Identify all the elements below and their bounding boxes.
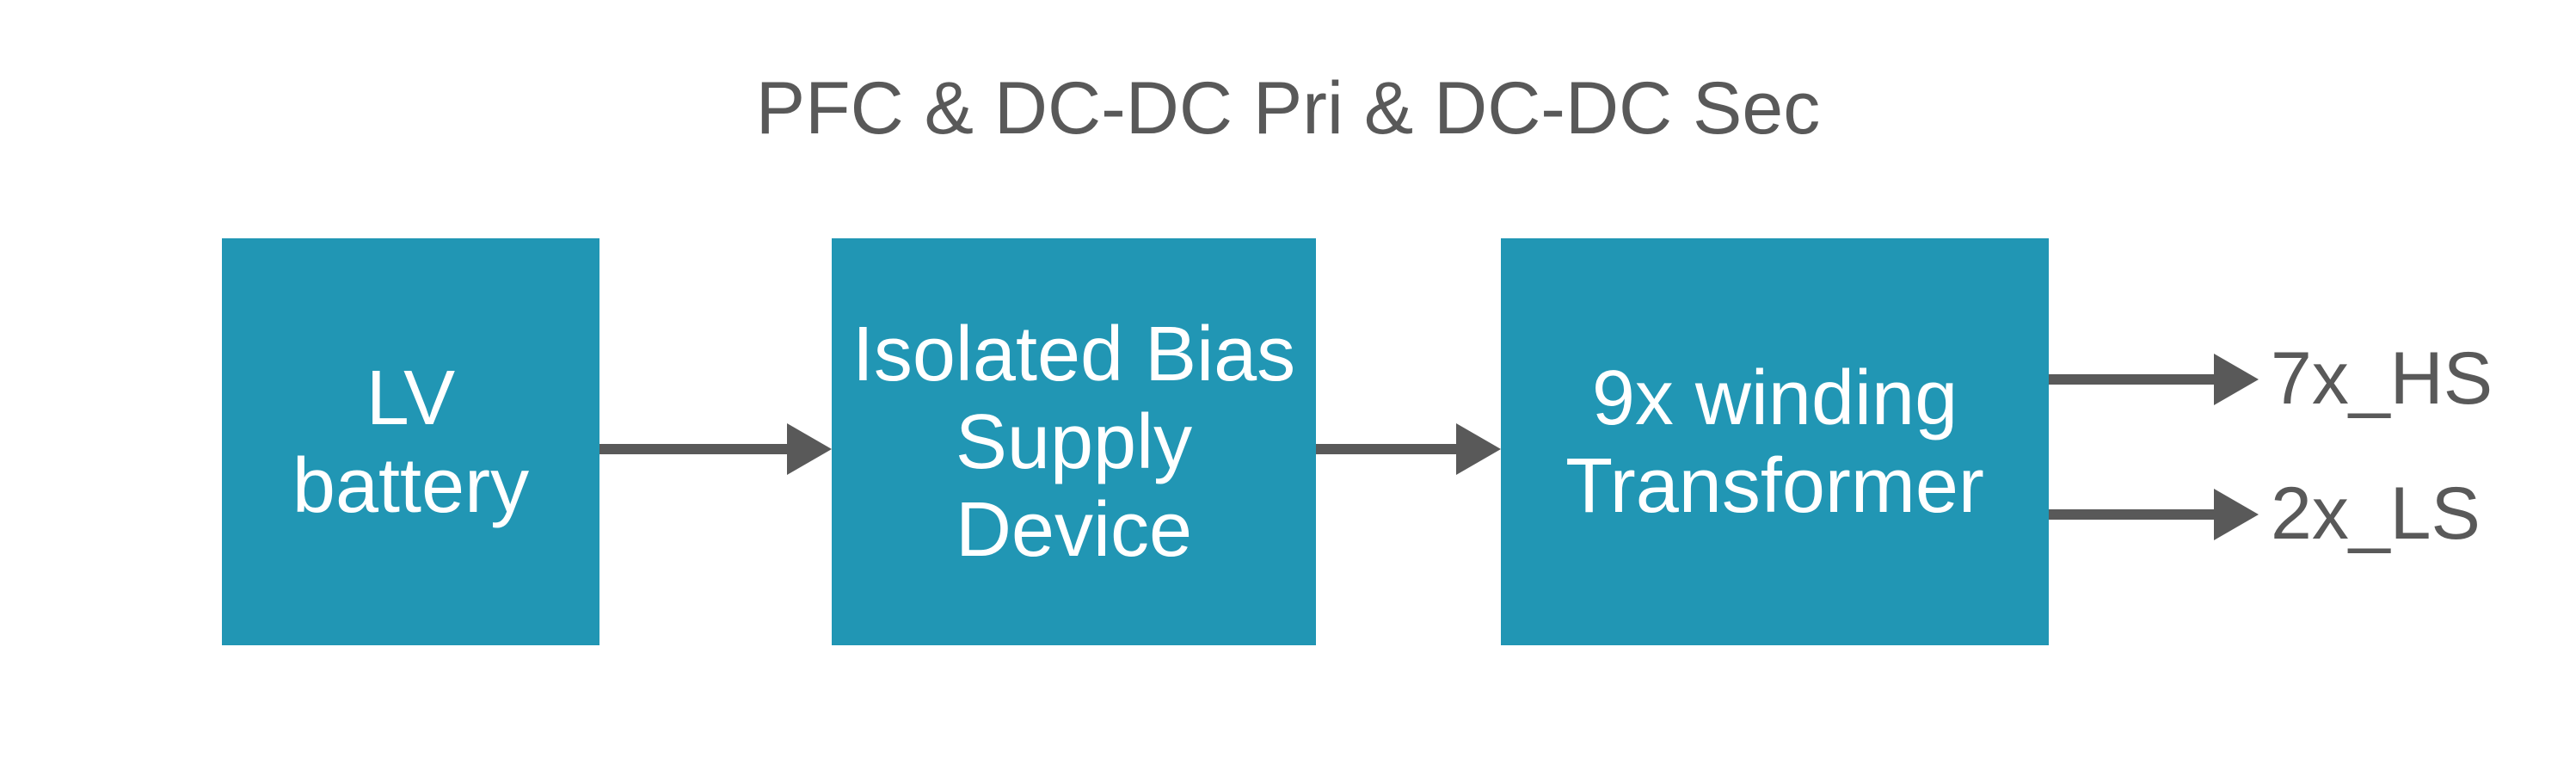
node-transformer-label: 9x winding Transformer xyxy=(1559,354,1991,530)
node-isolated-bias-supply[interactable]: Isolated Bias Supply Device xyxy=(832,238,1316,645)
arrowhead-icon xyxy=(787,423,832,475)
arrow-shaft xyxy=(1316,444,1456,454)
arrowhead-icon xyxy=(1456,423,1501,475)
diagram-canvas: PFC & DC-DC Pri & DC-DC Sec LV battery I… xyxy=(0,0,2576,764)
arrowhead-icon xyxy=(2214,489,2259,540)
arrow-shaft xyxy=(2049,509,2214,520)
node-isolated-bias-supply-label: Isolated Bias Supply Device xyxy=(845,311,1302,574)
arrow-shaft xyxy=(2049,374,2214,385)
node-lv-battery-label: LV battery xyxy=(286,354,536,530)
output-label-hs: 7x_HS xyxy=(2271,342,2493,416)
page-title: PFC & DC-DC Pri & DC-DC Sec xyxy=(0,67,2576,150)
node-transformer[interactable]: 9x winding Transformer xyxy=(1501,238,2049,645)
output-label-ls: 2x_LS xyxy=(2271,477,2481,551)
arrowhead-icon xyxy=(2214,354,2259,405)
arrow-shaft xyxy=(599,444,787,454)
node-lv-battery[interactable]: LV battery xyxy=(222,238,599,645)
